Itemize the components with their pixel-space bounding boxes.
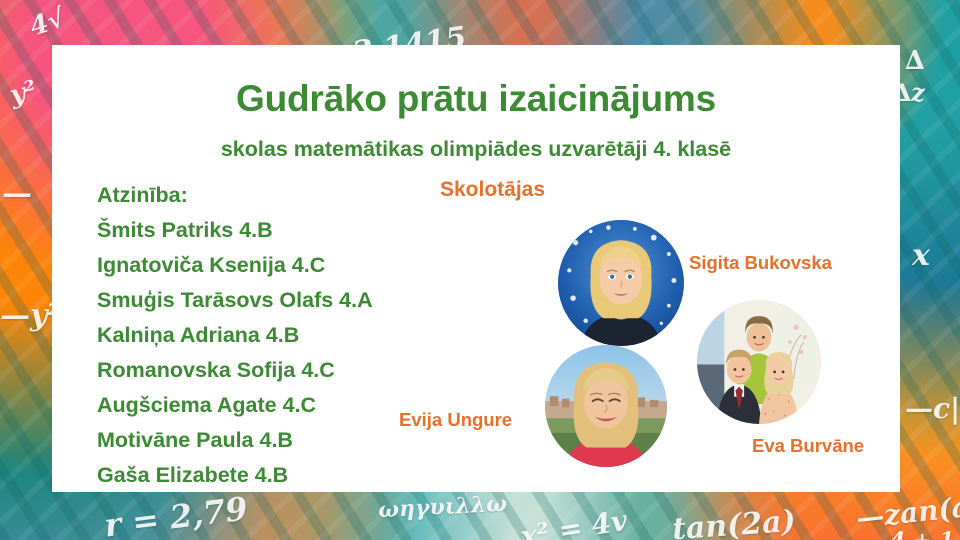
teachers-heading: Skolotājas bbox=[440, 178, 545, 202]
winner-row: Ignatoviča Ksenija 4.C bbox=[97, 248, 477, 283]
winner-row: Kalniņa Adriana 4.B bbox=[97, 318, 477, 353]
content-card: Gudrāko prātu izaicinājums skolas matemā… bbox=[52, 45, 900, 492]
page-title: Gudrāko prātu izaicinājums bbox=[52, 78, 900, 120]
winner-row: Gaša Elizabete 4.B bbox=[97, 458, 477, 493]
avatar-evija-ungure bbox=[545, 345, 667, 467]
winner-row: Romanovska Sofija 4.C bbox=[97, 353, 477, 388]
winner-row: Šmits Patriks 4.B bbox=[97, 213, 477, 248]
teacher-name-eva-burvane: Eva Burvāne bbox=[752, 435, 864, 457]
winner-row: Smuģis Tarāsovs Olafs 4.A bbox=[97, 283, 477, 318]
winners-heading: Atzinība: bbox=[97, 178, 477, 213]
avatar-sigita-bukovska bbox=[558, 220, 684, 346]
page-subtitle: skolas matemātikas olimpiādes uzvarētāji… bbox=[52, 137, 900, 162]
slide-canvas: 4√≈3.1415∆∆zy²——y²x—c|r = 2,79ωηγυιλλωx²… bbox=[0, 0, 960, 540]
winners-list: Atzinība: Šmits Patriks 4.BIgnatoviča Ks… bbox=[97, 178, 477, 493]
avatar-eva-burvane bbox=[697, 300, 821, 424]
teacher-name-sigita-bukovska: Sigita Bukovska bbox=[689, 252, 832, 274]
teacher-name-evija-ungure: Evija Ungure bbox=[399, 409, 512, 431]
